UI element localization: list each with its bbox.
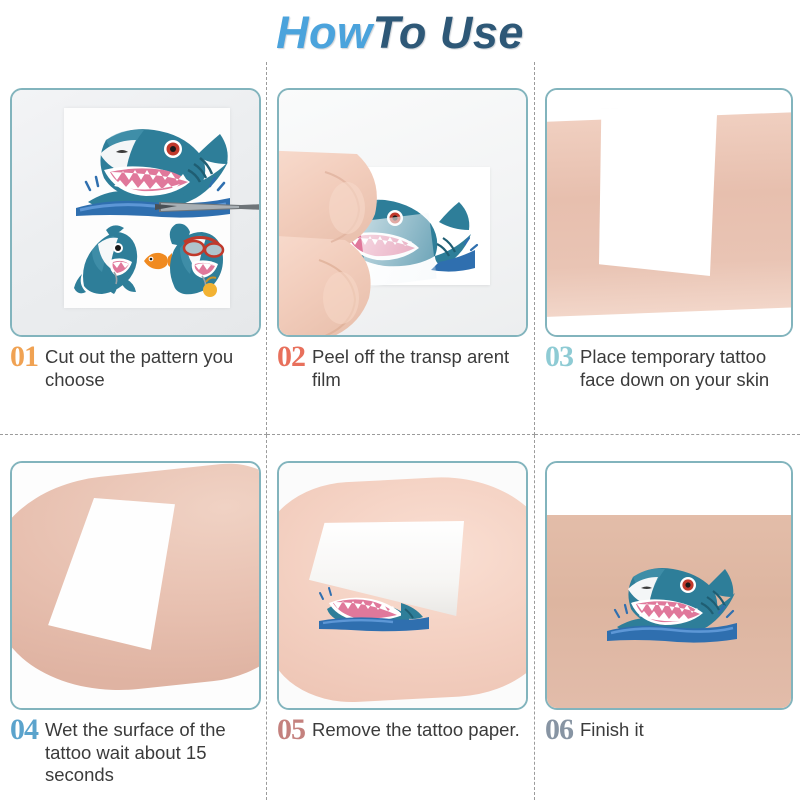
- step-number: 01: [10, 342, 38, 372]
- step-number: 02: [277, 342, 305, 372]
- page-title: HowTo Use: [276, 7, 524, 59]
- step-number: 04: [10, 715, 38, 745]
- step-card-03: 03 Place temporary tattoo face down on y…: [535, 62, 800, 435]
- step-card-06: 06 Finish it: [535, 435, 800, 800]
- tattoo-sheet-with-scissors-photo: [10, 88, 261, 337]
- title-word-touse: To Use: [373, 7, 524, 58]
- steps-grid: 01 Cut out the pattern you choose: [0, 62, 800, 800]
- step-caption: 02 Peel off the transp arent film: [277, 343, 524, 391]
- step-text: Cut out the pattern you choose: [45, 343, 256, 391]
- step-text: Peel off the transp arent film: [312, 343, 524, 391]
- step-text: Finish it: [580, 716, 644, 742]
- step-caption: 03 Place temporary tattoo face down on y…: [545, 343, 790, 391]
- finished-tattoo-photo: [545, 461, 793, 710]
- tattoo-face-down-on-skin-photo: [545, 88, 793, 337]
- step-caption: 05 Remove the tattoo paper.: [277, 716, 524, 746]
- step-card-01: 01 Cut out the pattern you choose: [0, 62, 267, 435]
- scissors-icon: [155, 194, 261, 220]
- peeling-transparent-film-photo: [277, 88, 528, 337]
- step-card-02: 02 Peel off the transp arent film: [267, 62, 535, 435]
- header: HowTo Use: [0, 0, 800, 62]
- step-caption: 04 Wet the surface of the tattoo wait ab…: [10, 716, 256, 787]
- step-text: Place temporary tattoo face down on your…: [580, 343, 790, 391]
- step-caption: 06 Finish it: [545, 716, 790, 746]
- title-word-how: How: [276, 7, 373, 58]
- step-number: 05: [277, 715, 305, 745]
- step-number: 03: [545, 342, 573, 372]
- step-card-04: 04 Wet the surface of the tattoo wait ab…: [0, 435, 267, 800]
- step-text: Remove the tattoo paper.: [312, 716, 520, 742]
- hand-fingers: [277, 148, 377, 337]
- step-card-05: 05 Remove the tattoo paper.: [267, 435, 535, 800]
- step-number: 06: [545, 715, 573, 745]
- remove-tattoo-paper-photo: [277, 461, 528, 710]
- step-text: Wet the surface of the tattoo wait about…: [45, 716, 256, 787]
- wet-tattoo-surface-photo: [10, 461, 261, 710]
- step-caption: 01 Cut out the pattern you choose: [10, 343, 256, 391]
